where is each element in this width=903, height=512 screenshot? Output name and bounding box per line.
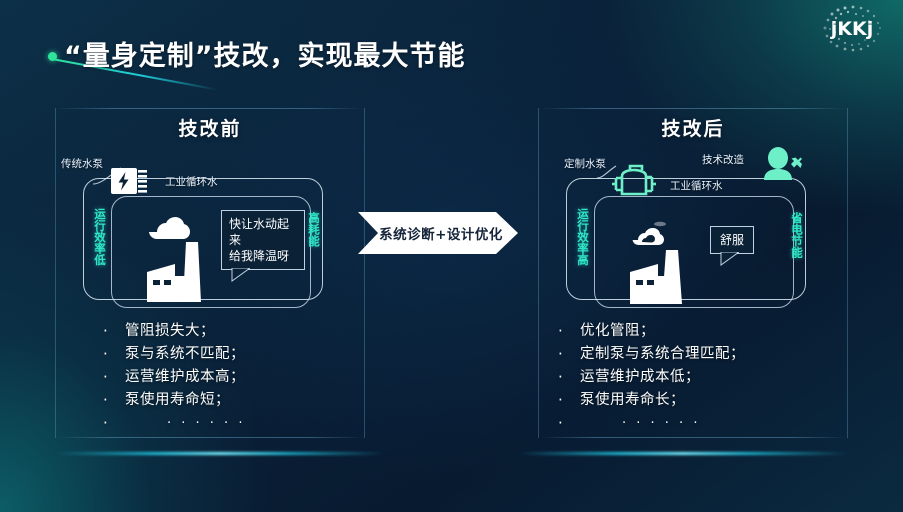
label-energy-right: 高耗能 (305, 212, 320, 247)
list-item: ·泵与系统不匹配； (103, 343, 403, 366)
process-arrow: 系统诊断+设计优化 (358, 210, 518, 256)
motor-pump-icon (109, 164, 157, 198)
bullet-dot-icon: · (558, 366, 580, 389)
bullet-dot-icon: · (103, 343, 125, 366)
technician-wrench-icon (758, 146, 804, 186)
speech-bubble-after: 舒服 (710, 226, 754, 254)
panel-before: 技改前 运行效率低 高耗能 传统水泵 (55, 108, 365, 438)
label-efficiency-left: 运行效率高 (574, 208, 589, 266)
bullet-dot-icon: · (558, 343, 580, 366)
valve-pump-icon (608, 164, 668, 204)
svg-text:jKKj: jKKj (830, 18, 873, 40)
panel-after: 技改后 运行效率高 省电节能 定制水泵 (538, 108, 848, 438)
speech-bubble-before: 快让水动起来 给我降温呀 (221, 210, 305, 270)
bullet-dot-icon: · (103, 389, 125, 412)
bullet-dot-icon: · (103, 412, 125, 435)
page-title-text: “量身定制”技改，实现最大节能 (64, 38, 466, 76)
bubble-tail-icon (230, 268, 250, 282)
pipe-label-after: 工业循环水 (670, 178, 723, 193)
list-item: ·泵使用寿命长； (558, 389, 858, 412)
pipe-label-before: 工业循环水 (165, 174, 218, 189)
bullet-list-after: ·优化管阻； ·定制泵与系统合理匹配； ·运营维护成本低； ·泵使用寿命长； ·… (558, 320, 858, 435)
diagram-before: 运行效率低 高耗能 传统水泵 工业循环水 (69, 152, 351, 310)
glow-divider-left (55, 452, 385, 455)
bullet-dot-icon: · (103, 366, 125, 389)
slide-canvas: “量身定制”技改，实现最大节能 (0, 0, 903, 512)
page-title: “量身定制”技改，实现最大节能 (48, 38, 466, 76)
list-item: ·定制泵与系统合理匹配； (558, 343, 858, 366)
list-item: ·优化管阻； (558, 320, 858, 343)
bubble-tail-icon (719, 252, 739, 266)
logo-wordmark: jKKj (830, 18, 873, 40)
list-item: ·运营维护成本低； (558, 366, 858, 389)
list-item: ·· · · · · · (558, 412, 858, 435)
diagram-after: 运行效率高 省电节能 定制水泵 工业循环水 (552, 152, 834, 310)
list-item: ·运营维护成本高； (103, 366, 403, 389)
process-arrow-label: 系统诊断+设计优化 (358, 210, 518, 256)
bullet-dot-icon: · (558, 389, 580, 412)
list-item: ·泵使用寿命短； (103, 389, 403, 412)
bullet-dot-icon: · (103, 320, 125, 343)
panel-before-title: 技改前 (55, 114, 365, 141)
tech-label-after: 技术改造 (702, 152, 744, 167)
bullet-list-before: ·管阻损失大； ·泵与系统不匹配； ·运营维护成本高； ·泵使用寿命短； ·· … (103, 320, 403, 435)
glow-divider-right (518, 452, 848, 455)
bullet-dot-icon: · (558, 320, 580, 343)
jkkj-logo: jKKj (815, 2, 889, 54)
label-efficiency-left: 运行效率低 (91, 208, 106, 266)
panel-after-title: 技改后 (538, 114, 848, 141)
list-item: ·管阻损失大； (103, 320, 403, 343)
bullet-dot-icon: · (558, 412, 580, 435)
factory-smoke-icon (614, 216, 714, 310)
label-saving-right: 省电节能 (788, 212, 803, 258)
factory-smoke-icon (129, 214, 229, 310)
list-item: ·· · · · · · (103, 412, 403, 435)
